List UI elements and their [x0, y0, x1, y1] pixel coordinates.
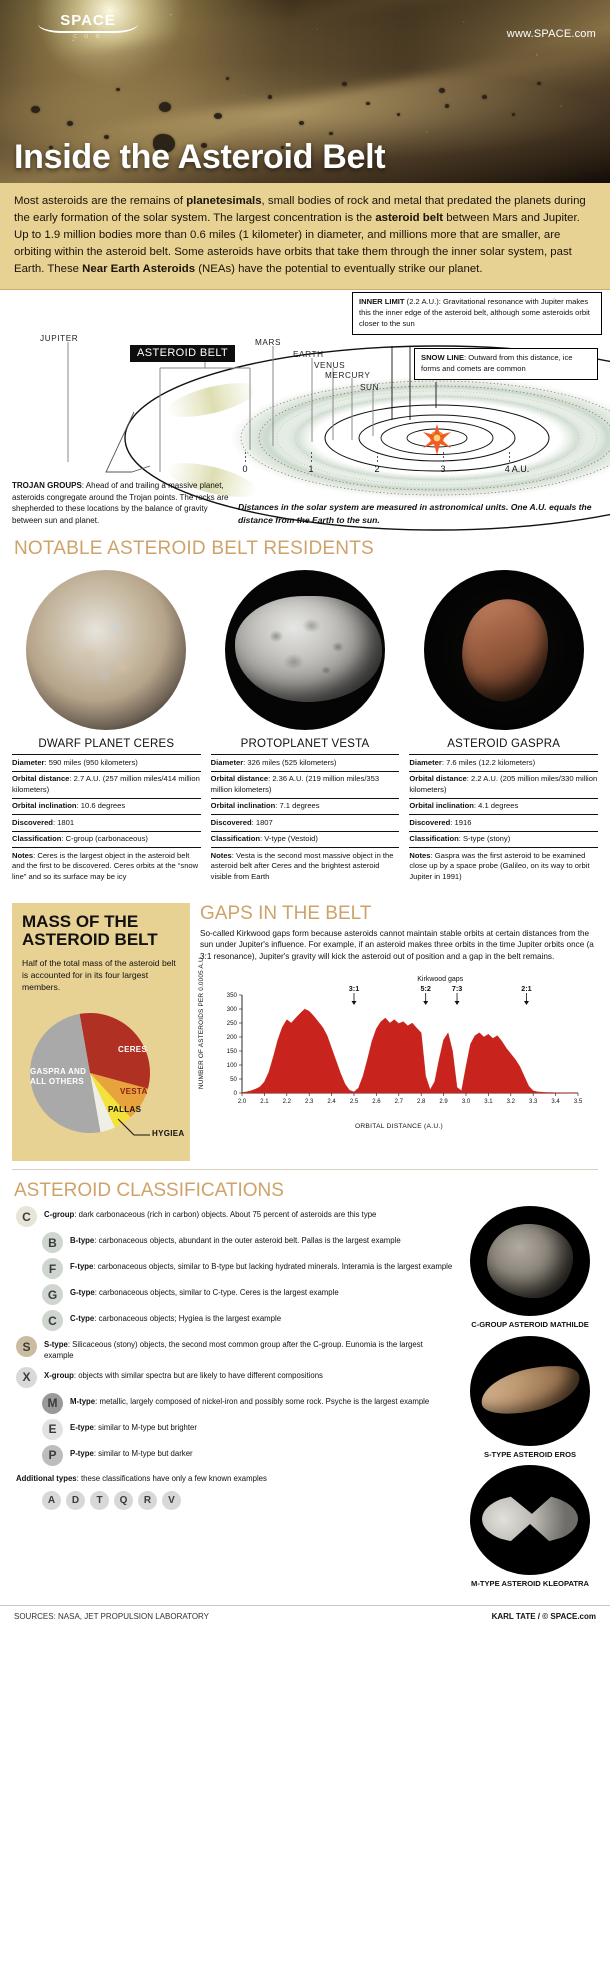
x-tick-2.9: 2.9	[439, 1099, 448, 1105]
photo-mathilde: C-GROUP ASTEROID MATHILDE	[470, 1206, 590, 1329]
resonance-label-7-3: 7:3	[452, 984, 462, 993]
class-badge-d-icon: D	[66, 1491, 85, 1510]
kirkwood-gaps-chart: NUMBER OF ASTEROIDS PER 0.0005 A.U. 0501…	[200, 969, 598, 1119]
x-tick-2.5: 2.5	[350, 1099, 359, 1105]
additional-types-text: Additional types: these classifications …	[16, 1474, 454, 1485]
mass-subtitle: Half of the total mass of the asteroid b…	[22, 957, 180, 993]
class-badge-m-icon: M	[42, 1393, 63, 1414]
residents-heading: NOTABLE ASTEROID BELT RESIDENTS	[0, 532, 610, 564]
y-tick-100: 100	[227, 1062, 238, 1069]
photo-caption: M-TYPE ASTEROID KLEOPATRA	[470, 1579, 590, 1588]
spec-row: Diameter: 7.6 miles (12.2 kilometers)	[409, 754, 598, 770]
resident-card-vesta: PROTOPLANET VESTA Diameter: 326 miles (5…	[211, 570, 400, 884]
mass-pie-chart: CERES VESTA PALLAS HYGIEA GASPRA AND ALL…	[22, 1001, 182, 1151]
resident-title: PROTOPLANET VESTA	[211, 738, 400, 750]
class-badge-v-icon: V	[162, 1491, 181, 1510]
y-tick-50: 50	[230, 1076, 237, 1083]
site-url[interactable]: www.SPACE.com	[507, 28, 596, 40]
gaps-svg: 0501001502002503003502.02.12.22.32.42.52…	[200, 969, 584, 1119]
callout-snow-line: SNOW LINE: Outward from this distance, i…	[414, 348, 598, 380]
class-badge-q-icon: Q	[114, 1491, 133, 1510]
spec-row: Orbital distance: 2.2 A.U. (205 million …	[409, 771, 598, 798]
au-tick-2: 2	[374, 464, 379, 474]
photo-eros: S-TYPE ASTEROID EROS	[470, 1336, 590, 1459]
classification-rows: CC-group: dark carbonaceous (rich in car…	[12, 1206, 454, 1594]
class-badge-g-icon: G	[42, 1284, 63, 1305]
class-badge-t-icon: T	[90, 1491, 109, 1510]
classification-text: S-type: Silicaceous (stony) objects, the…	[44, 1336, 454, 1362]
eros-photo	[470, 1336, 590, 1446]
solar-system-diagram: JUPITER ASTEROID BELT MARS EARTH VENUS M…	[0, 290, 610, 532]
x-tick-2.1: 2.1	[260, 1099, 269, 1105]
mathilde-photo	[470, 1206, 590, 1316]
y-tick-200: 200	[227, 1034, 238, 1041]
diagram-label-jupiter: JUPITER	[40, 334, 78, 343]
gaspra-photo	[424, 570, 584, 730]
spec-row: Orbital inclination: 10.6 degrees	[12, 798, 201, 814]
y-tick-250: 250	[227, 1020, 238, 1027]
resident-title: ASTEROID GASPRA	[409, 738, 598, 750]
photo-caption: S-TYPE ASTEROID EROS	[470, 1450, 590, 1459]
classification-row-c-type: CC-type: carbonaceous objects; Hygiea is…	[42, 1310, 454, 1331]
intro-paragraph: Most asteroids are the remains of planet…	[0, 183, 610, 290]
spec-row-notes: Notes: Vesta is the second most massive …	[211, 847, 400, 884]
mass-and-gaps-row: MASS OF THE ASTEROID BELT Half of the to…	[0, 895, 610, 1169]
classification-text: G-type: carbonaceous objects, similar to…	[70, 1284, 339, 1299]
hero-banner: SPACE C O M www.SPACE.com Inside the Ast…	[0, 0, 610, 183]
gaps-in-belt-panel: GAPS IN THE BELT So-called Kirkwood gaps…	[200, 903, 598, 1161]
y-tick-0: 0	[234, 1090, 238, 1097]
kleopatra-photo	[470, 1465, 590, 1575]
y-tick-350: 350	[227, 992, 238, 999]
classification-row-c-group: CC-group: dark carbonaceous (rich in car…	[16, 1206, 454, 1227]
classification-row-e-type: EE-type: similar to M-type but brighter	[42, 1419, 454, 1440]
y-tick-300: 300	[227, 1006, 238, 1013]
classification-row-g-type: GG-type: carbonaceous objects, similar t…	[42, 1284, 454, 1305]
x-tick-3.4: 3.4	[551, 1099, 560, 1105]
diagram-label-earth: EARTH	[293, 350, 324, 359]
gaps-description: So-called Kirkwood gaps form because ast…	[200, 928, 598, 964]
x-tick-2.4: 2.4	[327, 1099, 336, 1105]
x-tick-3.3: 3.3	[529, 1099, 538, 1105]
classifications-section: ASTEROID CLASSIFICATIONS CC-group: dark …	[0, 1170, 610, 1600]
kirkwood-gaps-annotation: Kirkwood gaps	[417, 976, 463, 983]
class-badge-r-icon: R	[138, 1491, 157, 1510]
x-tick-2.2: 2.2	[283, 1099, 292, 1105]
mass-of-belt-panel: MASS OF THE ASTEROID BELT Half of the to…	[12, 903, 190, 1161]
footer-sources: SOURCES: NASA, JET PROPULSION LABORATORY	[14, 1612, 209, 1621]
mass-title: MASS OF THE ASTEROID BELT	[22, 913, 180, 950]
classification-text: F-type: carbonaceous objects, similar to…	[70, 1258, 452, 1273]
au-scale-axis: 0 1 2 3 4 A.U.	[245, 452, 545, 476]
x-tick-2.8: 2.8	[417, 1099, 426, 1105]
x-tick-2.0: 2.0	[238, 1099, 247, 1105]
classification-row-f-type: FF-type: carbonaceous objects, similar t…	[42, 1258, 454, 1279]
spec-row: Classification: S-type (stony)	[409, 831, 598, 847]
classification-text: C-group: dark carbonaceous (rich in carb…	[44, 1206, 376, 1221]
pie-label-ceres: CERES	[118, 1045, 147, 1054]
au-tick-0: 0	[242, 464, 247, 474]
infographic-page: SPACE C O M www.SPACE.com Inside the Ast…	[0, 0, 610, 1631]
ceres-photo	[26, 570, 186, 730]
classification-text: X-group: objects with similar spectra bu…	[44, 1367, 323, 1382]
resonance-label-3-1: 3:1	[349, 984, 359, 993]
classifications-heading: ASTEROID CLASSIFICATIONS	[0, 1174, 610, 1204]
additional-type-badges: ADTQRV	[16, 1491, 454, 1510]
spec-row: Classification: C-group (carbonaceous)	[12, 831, 201, 847]
resonance-label-5-2: 5:2	[420, 984, 430, 993]
pie-label-hygiea: HYGIEA	[152, 1129, 184, 1138]
classification-text: P-type: similar to M-type but darker	[70, 1445, 193, 1460]
class-badge-p-icon: P	[42, 1445, 63, 1466]
class-badge-a-icon: A	[42, 1491, 61, 1510]
diagram-label-mercury: MERCURY	[325, 371, 370, 380]
class-badge-f-icon: F	[42, 1258, 63, 1279]
spec-row: Classification: V-type (Vestoid)	[211, 831, 400, 847]
gaps-title: GAPS IN THE BELT	[200, 903, 598, 925]
space-com-logo[interactable]: SPACE C O M	[38, 12, 138, 40]
spec-row: Orbital inclination: 7.1 degrees	[211, 798, 400, 814]
classification-row-s-type: SS-type: Silicaceous (stony) objects, th…	[16, 1336, 454, 1362]
spec-row: Discovered: 1801	[12, 814, 201, 830]
photo-caption: C-GROUP ASTEROID MATHILDE	[470, 1320, 590, 1329]
spec-row: Diameter: 326 miles (525 kilometers)	[211, 754, 400, 770]
spec-row: Discovered: 1807	[211, 814, 400, 830]
classification-row-b-type: BB-type: carbonaceous objects, abundant …	[42, 1232, 454, 1253]
asteroid-belt-chip: ASTEROID BELT	[130, 345, 235, 362]
resident-card-gaspra: ASTEROID GASPRA Diameter: 7.6 miles (12.…	[409, 570, 598, 884]
page-title: Inside the Asteroid Belt	[14, 138, 385, 177]
x-tick-2.6: 2.6	[372, 1099, 381, 1105]
class-badge-s-icon: S	[16, 1336, 37, 1357]
classification-text: E-type: similar to M-type but brighter	[70, 1419, 197, 1434]
x-tick-3.0: 3.0	[462, 1099, 471, 1105]
classification-text: B-type: carbonaceous objects, abundant i…	[70, 1232, 401, 1247]
histogram-area	[242, 1009, 578, 1093]
chart-x-axis-label: ORBITAL DISTANCE (A.U.)	[355, 1123, 443, 1130]
class-badge-c-icon: C	[42, 1310, 63, 1331]
logo-dotcom: C O M	[38, 34, 138, 40]
footer: SOURCES: NASA, JET PROPULSION LABORATORY…	[0, 1605, 610, 1631]
x-tick-3.2: 3.2	[507, 1099, 516, 1105]
spec-row: Diameter: 590 miles (950 kilometers)	[12, 754, 201, 770]
classification-row-x-group: XX-group: objects with similar spectra b…	[16, 1367, 454, 1388]
spec-row: Orbital distance: 2.7 A.U. (257 million …	[12, 771, 201, 798]
x-tick-2.7: 2.7	[395, 1099, 404, 1105]
classification-row-p-type: PP-type: similar to M-type but darker	[42, 1445, 454, 1466]
au-tick-4: 4 A.U.	[505, 464, 530, 474]
au-tick-1: 1	[308, 464, 313, 474]
footer-credit: KARL TATE / © SPACE.com	[492, 1612, 596, 1621]
callout-inner-limit: INNER LIMIT (2.2 A.U.): Gravitational re…	[352, 292, 602, 334]
resident-title: DWARF PLANET CERES	[12, 738, 201, 750]
logo-wordmark: SPACE	[60, 12, 116, 29]
class-badge-x-icon: X	[16, 1367, 37, 1388]
pie-label-vesta: VESTA	[120, 1087, 148, 1096]
spec-row: Orbital distance: 2.36 A.U. (219 million…	[211, 771, 400, 798]
classification-text: M-type: metallic, largely composed of ni…	[70, 1393, 429, 1408]
diagram-label-venus: VENUS	[314, 361, 345, 370]
resident-card-ceres: DWARF PLANET CERES Diameter: 590 miles (…	[12, 570, 201, 884]
class-badge-b-icon: B	[42, 1232, 63, 1253]
x-tick-2.3: 2.3	[305, 1099, 314, 1105]
x-tick-3.5: 3.5	[574, 1099, 583, 1105]
spec-row: Discovered: 1916	[409, 814, 598, 830]
diagram-label-mars: MARS	[255, 338, 281, 347]
callout-trojan-groups: TROJAN GROUPS: Ahead of and trailing a m…	[12, 480, 234, 526]
classification-row-m-type: MM-type: metallic, largely composed of n…	[42, 1393, 454, 1414]
spec-row-notes: Notes: Ceres is the largest object in th…	[12, 847, 201, 884]
y-tick-150: 150	[227, 1048, 238, 1055]
spec-row-notes: Notes: Gaspra was the first asteroid to …	[409, 847, 598, 884]
class-badge-c-icon: C	[16, 1206, 37, 1227]
diagram-label-sun: SUN	[360, 383, 379, 392]
au-definition-note: Distances in the solar system are measur…	[238, 501, 604, 526]
spec-row: Orbital inclination: 4.1 degrees	[409, 798, 598, 814]
au-tick-3: 3	[440, 464, 445, 474]
class-badge-e-icon: E	[42, 1419, 63, 1440]
pie-label-others: GASPRA AND ALL OTHERS	[30, 1067, 94, 1088]
photo-kleopatra: M-TYPE ASTEROID KLEOPATRA	[470, 1465, 590, 1588]
residents-cards: DWARF PLANET CERES Diameter: 590 miles (…	[0, 564, 610, 894]
classification-text: C-type: carbonaceous objects; Hygiea is …	[70, 1310, 281, 1325]
classification-photos: C-GROUP ASTEROID MATHILDE S-TYPE ASTEROI…	[462, 1206, 598, 1594]
vesta-photo	[225, 570, 385, 730]
resonance-label-2-1: 2:1	[521, 984, 531, 993]
pie-label-pallas: PALLAS	[108, 1105, 141, 1114]
x-tick-3.1: 3.1	[484, 1099, 493, 1105]
